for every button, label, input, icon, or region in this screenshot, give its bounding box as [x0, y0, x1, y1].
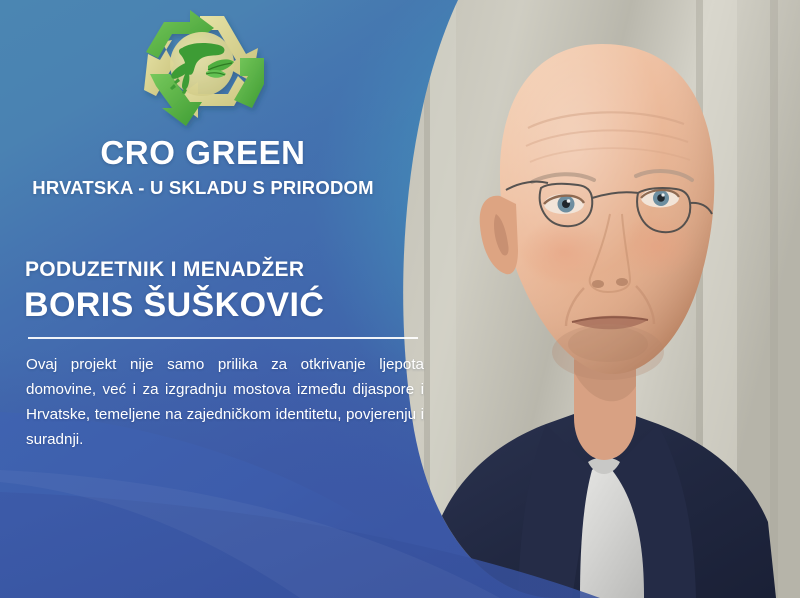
portrait-photo-shape — [396, 0, 800, 598]
brand-name: CRO GREEN — [0, 136, 406, 171]
brand-text-block: CRO GREEN HRVATSKA - U SKLADU S PRIRODOM — [0, 136, 406, 199]
person-name: BORIS ŠUŠKOVIĆ — [24, 286, 324, 325]
person-quote: Ovaj projekt nije samo prilika za otkriv… — [26, 352, 424, 452]
divider-rule — [28, 337, 418, 339]
brand-tagline: HRVATSKA - U SKLADU S PRIRODOM — [0, 177, 406, 199]
cro-green-logo — [128, 8, 276, 138]
portrait-photo — [396, 0, 800, 598]
promo-poster: CRO GREEN HRVATSKA - U SKLADU S PRIRODOM… — [0, 0, 800, 598]
person-role: PODUZETNIK I MENADŽER — [25, 258, 304, 282]
